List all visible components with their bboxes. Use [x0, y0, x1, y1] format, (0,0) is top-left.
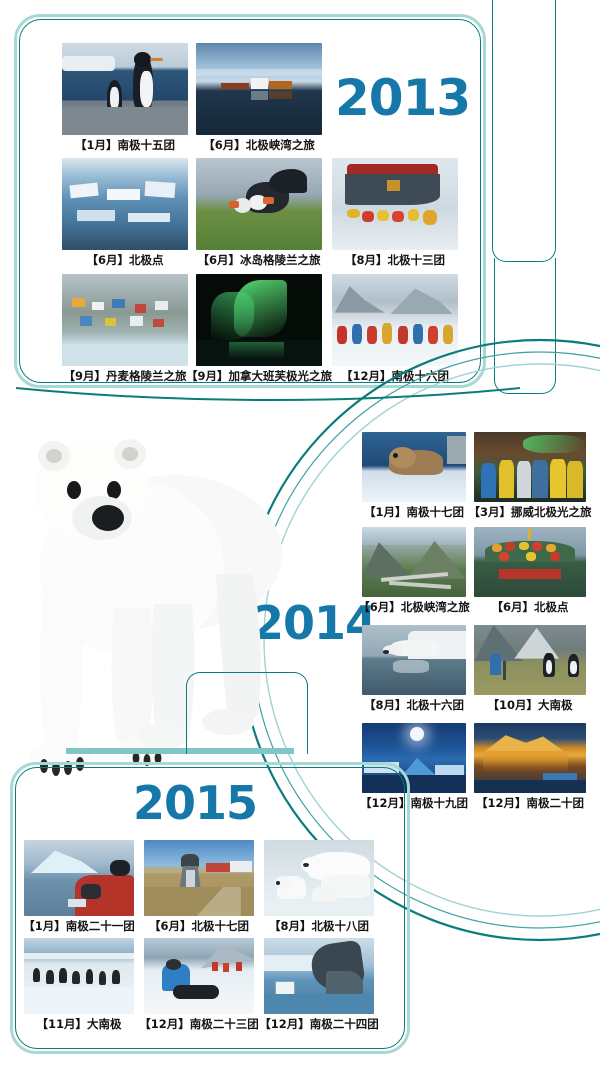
thumb-polar-bear-with-cubs: [264, 840, 374, 916]
thumb-seal-on-ice: [362, 432, 466, 502]
photo-caption: 【8月】北极十八团: [269, 918, 369, 934]
photo-card[interactable]: 【12月】南极二十四团: [264, 938, 374, 1014]
thumb-group-photo-on-snow: [332, 274, 458, 366]
photo-caption: 【1月】南极十七团: [364, 504, 464, 520]
photo-card[interactable]: 【3月】挪威北极光之旅: [474, 432, 586, 502]
thumb-amundsen-monument: [144, 840, 254, 916]
photo-card[interactable]: 【1月】南极二十一团: [24, 840, 134, 916]
thumb-ship-deck-crowd: [474, 527, 586, 597]
photo-caption: 【6月】北极峡湾之旅: [358, 599, 470, 615]
thumb-breaching-humpback-whale: [264, 938, 374, 1014]
thumb-traveler-sitting-on-snow: [144, 938, 254, 1014]
photo-caption: 【6月】冰岛格陵兰之旅: [197, 252, 320, 268]
photo-card[interactable]: 【1月】南极十五团: [62, 43, 188, 135]
photo-card[interactable]: 【1月】南极十七团: [362, 432, 466, 502]
photo-card[interactable]: 【11月】大南极: [24, 938, 134, 1014]
photo-caption: 【6月】北极点: [86, 252, 163, 268]
thumb-penguin-colony-line: [24, 938, 134, 1014]
poster-canvas: 2013 【1月】南极十五团 【6月】北极峡湾之旅: [0, 0, 600, 1067]
photo-card[interactable]: 【8月】北极十六团: [362, 625, 466, 695]
photo-caption: 【11月】大南极: [36, 1016, 121, 1032]
photo-caption: 【8月】北极十三团: [345, 252, 445, 268]
thumb-puffins-on-grass: [196, 158, 322, 250]
photo-caption: 【9月】加拿大班芙极光之旅: [186, 368, 332, 384]
photo-caption: 【6月】北极十七团: [149, 918, 249, 934]
photo-caption: 【12月】南极十六团: [341, 368, 449, 384]
year-label-2015: 2015: [133, 780, 257, 826]
photo-card[interactable]: 【6月】北极峡湾之旅: [362, 527, 466, 597]
photo-caption: 【12月】南极二十三团: [139, 1016, 259, 1032]
connector-2014-to-2015: [186, 672, 308, 754]
photo-caption: 【1月】南极十五团: [75, 137, 175, 153]
photo-card[interactable]: 【9月】加拿大班芙极光之旅: [196, 274, 322, 366]
thumb-icebreaker-with-people: [332, 158, 458, 250]
thumb-colorful-greenland-town: [62, 274, 188, 366]
photo-caption: 【6月】北极点: [491, 599, 568, 615]
thumb-penguins-on-rock: [62, 43, 188, 135]
photo-card[interactable]: 【6月】北极峡湾之旅: [196, 43, 322, 135]
thumb-norway-mountain-road: [362, 527, 466, 597]
thumb-king-penguins-photographer: [474, 625, 586, 695]
thumb-polar-bear-reflection: [362, 625, 466, 695]
photo-card[interactable]: 【12月】南极二十三团: [144, 938, 254, 1014]
thumb-aurora-over-lake: [196, 274, 322, 366]
connector-2013-to-2014: [492, 0, 556, 262]
thumb-fjord-village-reflection: [196, 43, 322, 135]
thumb-golden-sunset-mountains: [474, 723, 586, 793]
photo-card[interactable]: 【6月】北极点: [62, 158, 188, 250]
photo-card[interactable]: 【8月】北极十八团: [264, 840, 374, 916]
thumb-pack-ice-field: [62, 158, 188, 250]
photo-caption: 【8月】北极十六团: [364, 697, 464, 713]
photo-card[interactable]: 【9月】丹麦格陵兰之旅: [62, 274, 188, 366]
photo-card[interactable]: 【12月】南极十六团: [332, 274, 458, 366]
photo-card[interactable]: 【8月】北极十三团: [332, 158, 458, 250]
thumb-red-parka-traveler-iceberg: [24, 840, 134, 916]
photo-card[interactable]: 【12月】南极二十团: [474, 723, 586, 793]
photo-caption: 【6月】北极峡湾之旅: [203, 137, 315, 153]
photo-card[interactable]: 【10月】大南极: [474, 625, 586, 695]
photo-card[interactable]: 【6月】北极十七团: [144, 840, 254, 916]
connector-2013-to-2014-inner: [494, 258, 556, 394]
photo-caption: 【3月】挪威北极光之旅: [468, 504, 591, 520]
year-label-2013: 2013: [335, 73, 470, 123]
photo-card[interactable]: 【6月】北极点: [474, 527, 586, 597]
photo-caption: 【12月】南极二十团: [476, 795, 584, 811]
photo-card[interactable]: 【6月】冰岛格陵兰之旅: [196, 158, 322, 250]
photo-caption: 【12月】南极二十四团: [259, 1016, 379, 1032]
photo-caption: 【1月】南极二十一团: [23, 918, 135, 934]
thumb-group-under-aurora: [474, 432, 586, 502]
photo-caption: 【9月】丹麦格陵兰之旅: [63, 368, 186, 384]
photo-caption: 【10月】大南极: [487, 697, 572, 713]
